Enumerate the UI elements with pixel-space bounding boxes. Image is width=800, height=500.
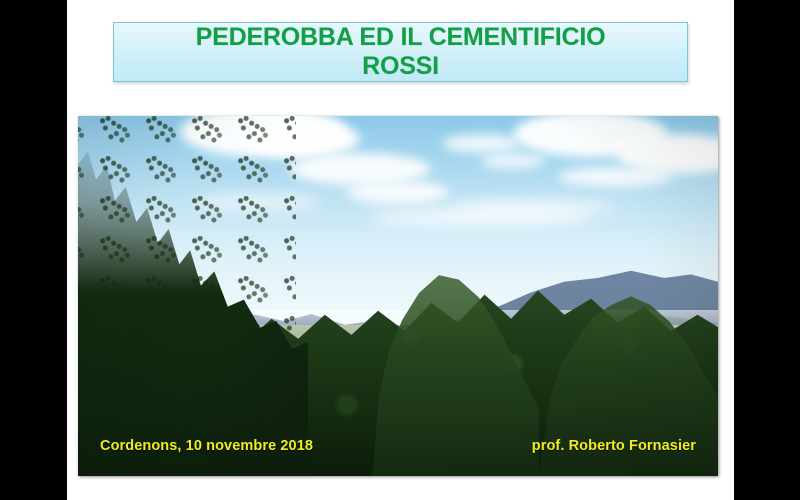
left-tree-leaves [78,116,296,332]
cloud-shape [449,199,615,215]
cloud-shape [558,167,673,188]
landscape-photo: Cordenons, 10 novembre 2018 prof. Robert… [78,116,718,476]
letterbox-bar-left [0,0,67,500]
photo-caption-author: prof. Roberto Fornasier [532,438,696,454]
cloud-shape [443,134,520,152]
slide-viewer: PEDEROBBA ED IL CEMENTIFICIO ROSSI [0,0,800,500]
cloud-shape [347,181,449,204]
page-title: PEDEROBBA ED IL CEMENTIFICIO ROSSI [196,23,606,81]
photo-canvas: Cordenons, 10 novembre 2018 prof. Robert… [78,116,718,476]
title-banner: PEDEROBBA ED IL CEMENTIFICIO ROSSI [113,22,688,82]
photo-caption-location-date: Cordenons, 10 novembre 2018 [100,438,313,454]
cloud-shape [481,153,545,169]
letterbox-bar-right [734,0,800,500]
slide-canvas: PEDEROBBA ED IL CEMENTIFICIO ROSSI [67,0,734,500]
